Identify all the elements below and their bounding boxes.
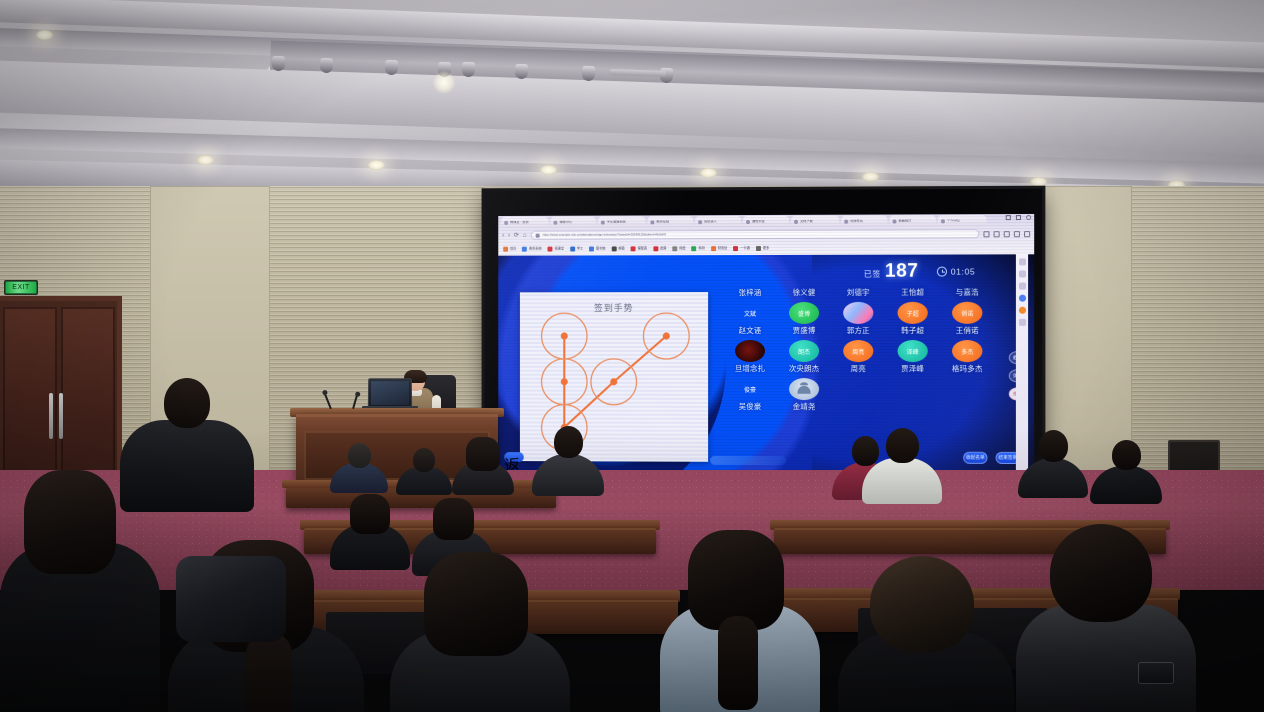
attendee-cell[interactable]: 旦增念扎 — [724, 340, 776, 374]
person-hair — [424, 552, 528, 656]
ceiling-downlight — [197, 155, 214, 165]
panel-history-icon[interactable] — [1018, 283, 1025, 290]
star-icon[interactable] — [983, 231, 989, 237]
attendee-avatar: 周亮 — [843, 340, 873, 362]
attendee-name: 张梓涵 — [739, 287, 762, 298]
person-ponytail — [718, 616, 758, 710]
person-hair — [688, 530, 784, 630]
track-light-icon — [272, 56, 286, 71]
attendee-name: 郭方正 — [847, 325, 870, 336]
attendee-avatar: 盛博 — [789, 302, 819, 324]
attendee-cell[interactable]: 俊豪吴俊豪 — [724, 378, 776, 412]
bookmark-favicon-icon — [691, 246, 696, 251]
attendee-name: 王怡超 — [901, 287, 924, 298]
forward-button[interactable]: › — [508, 232, 510, 238]
tab-favicon-icon — [794, 219, 798, 223]
panel-translate-icon[interactable] — [1018, 307, 1025, 314]
tab-favicon-icon — [601, 220, 605, 224]
attendee-cell[interactable]: 多杰格玛多杰 — [941, 340, 994, 374]
bookmark-label: 财务处 — [718, 247, 728, 250]
bookmark-item[interactable]: 网盘 — [672, 246, 685, 251]
tab-favicon-icon — [844, 219, 848, 223]
person-ponytail — [246, 632, 292, 712]
collapse-list-button[interactable]: 收起名单 — [963, 452, 987, 464]
bookmark-item[interactable]: 财务处 — [711, 246, 728, 251]
signed-counter: 已签 187 — [864, 261, 919, 283]
pattern-node — [561, 378, 568, 385]
bookmark-label: 教务系统 — [529, 248, 542, 251]
panel-settings-icon[interactable] — [1018, 319, 1025, 326]
profile-icon[interactable] — [1014, 231, 1020, 237]
bookmark-item[interactable]: 学工 — [570, 247, 583, 252]
progress-pill — [710, 456, 786, 465]
attendee-cell[interactable]: 刘德宇 — [832, 287, 884, 298]
clock-icon — [937, 267, 947, 277]
attendee-cell[interactable]: 子超韩子超 — [886, 302, 938, 336]
ceiling-downlight — [540, 165, 557, 175]
reload-button[interactable]: ⟳ — [514, 232, 519, 238]
attendee-cell[interactable]: 张梓涵 — [724, 287, 776, 298]
tab-favicon-icon — [941, 219, 945, 223]
lecture-hall-photo: EXIT 雨课堂 - 签到 课程中心 学生管理系统 教务在线 成绩录入 通知公告… — [0, 0, 1264, 712]
menu-icon[interactable] — [1024, 231, 1030, 237]
attendee-name: 次央朗杰 — [789, 363, 819, 374]
attendee-avatar: 文斌 — [735, 302, 765, 324]
bookmark-item[interactable]: 雨课堂 — [548, 247, 564, 252]
person-head — [554, 426, 583, 458]
laptop-screen — [371, 381, 409, 405]
person-shoulders — [1090, 466, 1162, 504]
backpack-body — [176, 556, 286, 642]
track-light-icon — [462, 62, 476, 77]
tab-favicon-icon — [504, 220, 508, 224]
attendance-footer-actions[interactable]: 收起名单 结束签到 — [963, 452, 1020, 464]
downloads-icon[interactable] — [1004, 231, 1010, 237]
track-light-icon — [515, 64, 529, 79]
bookmark-label: 首页 — [510, 248, 516, 251]
bookmark-favicon-icon — [611, 246, 616, 251]
attendee-cell-empty — [941, 378, 994, 412]
bookmark-item[interactable]: 选课 — [653, 246, 666, 251]
audience-member — [862, 428, 942, 502]
track-light-icon — [385, 60, 399, 75]
panel-search-icon[interactable] — [1018, 258, 1025, 265]
bookmark-label: 雨课堂 — [555, 247, 564, 250]
address-bar[interactable]: https://www.example.edu.cn/attendance/si… — [530, 229, 979, 239]
bookmark-label: 选课 — [660, 247, 666, 250]
signed-count: 187 — [885, 261, 918, 283]
panel-bookmark-icon[interactable] — [1018, 270, 1025, 277]
ceiling-downlight — [700, 168, 717, 178]
browser-toolbar: ‹ › ⟳ ⌂ https://www.example.edu.cn/atten… — [498, 227, 1034, 242]
person-shoulders — [532, 454, 604, 496]
audience-member-foreground — [838, 556, 1014, 712]
tab-title: 在线考试 — [850, 220, 863, 223]
bookmark-item[interactable]: 课程表 — [631, 246, 647, 251]
attendee-name: 王俏诺 — [956, 325, 979, 336]
bookmark-favicon-icon — [570, 247, 575, 252]
attendee-name: 金靖尧 — [793, 401, 816, 412]
attendee-avatar: 多杰 — [952, 340, 982, 362]
attendee-cell[interactable]: 金靖尧 — [778, 378, 830, 412]
audience-member-foreground — [660, 530, 820, 712]
ceiling-downlight — [36, 30, 53, 40]
attendee-grid: 张梓涵 徐义健 刘德宇 王怡超 与嘉浩 文斌赵文诬 盛博贾盛博 郭方正 子超韩子… — [724, 287, 994, 413]
track-light-icon — [320, 58, 334, 73]
attendee-name: 吴俊豪 — [739, 401, 762, 412]
bookmark-item[interactable]: 更多 — [756, 246, 769, 251]
audience-member-foreground — [1016, 524, 1196, 712]
attendee-name: 刘德宇 — [847, 287, 870, 298]
attendee-name: 贾泽峰 — [901, 363, 924, 374]
pattern-node — [663, 332, 670, 339]
bookmark-item[interactable]: 首页 — [503, 247, 516, 252]
person-shoulders — [1018, 458, 1088, 498]
ceiling-downlight — [862, 172, 879, 182]
attendee-name: 与嘉浩 — [956, 287, 979, 298]
extensions-icon[interactable] — [994, 231, 1000, 237]
tab-title: 雨课堂 - 签到 — [510, 221, 528, 224]
attendee-avatar — [735, 340, 765, 362]
bookmark-item[interactable]: 教务系统 — [522, 247, 541, 252]
bookmark-label: 一卡通 — [740, 247, 750, 250]
bookmark-favicon-icon — [672, 246, 677, 251]
bookmark-favicon-icon — [733, 246, 738, 251]
toolbar-icons[interactable] — [983, 231, 1030, 237]
attendee-avatar: 子超 — [898, 302, 928, 324]
bookmark-favicon-icon — [589, 246, 594, 251]
tab-title: 成绩录入 — [704, 220, 717, 223]
home-button[interactable]: ⌂ — [523, 232, 527, 238]
audience-member-foreground — [0, 470, 160, 712]
tab-title: 数据统计 — [899, 219, 912, 222]
attendee-cell[interactable]: 徐义健 — [778, 287, 830, 298]
window-controls[interactable] — [1006, 215, 1031, 220]
attendee-name: 韩子超 — [901, 325, 924, 336]
bookmark-favicon-icon — [711, 246, 716, 251]
attendee-cell[interactable]: 朗杰次央朗杰 — [778, 340, 830, 374]
audience-member — [1090, 440, 1162, 502]
person-head — [886, 428, 919, 463]
attendee-cell-empty — [886, 378, 938, 412]
attendee-avatar: 朗杰 — [789, 340, 819, 362]
attendee-cell[interactable]: 俏诺王俏诺 — [941, 302, 994, 336]
bookmark-label: 科研 — [698, 247, 704, 250]
backpack-tag — [1138, 662, 1174, 684]
tab-favicon-icon — [698, 220, 702, 224]
person-head — [1050, 524, 1152, 622]
track-light-icon — [582, 66, 596, 81]
attendee-cell[interactable]: 周亮周亮 — [832, 340, 884, 374]
attendee-name: 赵文诬 — [739, 325, 762, 336]
attendee-name: 徐义健 — [793, 287, 816, 298]
attendance-header: 已签 187 01:05 — [864, 260, 976, 282]
close-icon[interactable] — [1026, 215, 1031, 220]
bookmark-item[interactable]: 科研 — [691, 246, 704, 251]
audience-member — [452, 437, 514, 493]
bookmark-favicon-icon — [653, 246, 658, 251]
browser-chrome: 雨课堂 - 签到 课程中心 学生管理系统 教务在线 成绩录入 通知公告 文档下载… — [498, 214, 1034, 256]
audience-member — [396, 448, 452, 492]
attendee-avatar — [843, 302, 873, 324]
bookmark-label: 学工 — [577, 247, 583, 250]
audience-member-foreground — [390, 552, 570, 712]
attendee-cell[interactable]: 与嘉浩 — [941, 287, 994, 298]
attendee-cell[interactable]: 郭方正 — [832, 302, 884, 336]
attendee-cell[interactable]: 盛博贾盛博 — [778, 302, 830, 336]
audience-member — [330, 443, 388, 491]
pattern-node — [610, 378, 617, 385]
person-hair — [466, 437, 500, 471]
bookmark-item[interactable]: 邮箱 — [611, 246, 624, 251]
bookmark-favicon-icon — [756, 246, 761, 251]
tab-title: 教务在线 — [656, 220, 669, 223]
address-bar-url: https://www.example.edu.cn/attendance/si… — [542, 233, 666, 236]
ceiling-downlight — [368, 160, 385, 170]
audience-member — [1018, 430, 1088, 496]
bookmark-item[interactable]: 一卡通 — [733, 246, 750, 251]
minimize-icon[interactable] — [1006, 215, 1011, 220]
pattern-node — [561, 332, 568, 339]
bookmark-label: 课程表 — [638, 247, 647, 250]
person-head — [870, 556, 974, 652]
timer-value: 01:05 — [951, 267, 976, 277]
tab-favicon-icon — [650, 220, 654, 224]
attendee-cell[interactable]: 王怡超 — [886, 287, 938, 298]
bookmark-label: 邮箱 — [618, 247, 624, 250]
tab-favicon-icon — [746, 220, 750, 224]
person-head — [413, 448, 435, 472]
tab-favicon-icon — [553, 220, 557, 224]
attendee-cell[interactable]: 泽峰贾泽峰 — [886, 340, 938, 374]
bookmark-favicon-icon — [522, 247, 527, 252]
backpack — [176, 556, 286, 642]
attendee-cell[interactable]: 文斌赵文诬 — [724, 302, 776, 336]
tab-title: 个人中心 — [947, 219, 960, 222]
tab-title: 学生管理系统 — [607, 220, 626, 223]
bookmark-favicon-icon — [503, 247, 508, 252]
person-hair — [433, 498, 474, 540]
audience-member — [532, 426, 604, 494]
person-head — [348, 443, 371, 468]
attendee-name: 贾盛博 — [793, 325, 816, 336]
attendee-name: 周亮 — [851, 363, 866, 374]
attendee-avatar: 俏诺 — [952, 302, 982, 324]
bookmark-label: 更多 — [763, 247, 769, 250]
bookmark-item[interactable]: 图书馆 — [589, 246, 605, 251]
door-handle-icon[interactable] — [49, 393, 53, 439]
presenter-laptop — [368, 378, 412, 408]
person-head — [164, 378, 210, 428]
lock-icon — [535, 233, 539, 237]
panel-app-icon[interactable] — [1018, 295, 1025, 302]
exit-sign: EXIT — [4, 280, 38, 295]
attendee-cell-empty — [832, 378, 884, 412]
bookmark-label: 图书馆 — [596, 247, 605, 250]
person-head — [1112, 440, 1141, 470]
tab-title: 课程中心 — [559, 221, 572, 224]
exit-sign-label: EXIT — [6, 282, 36, 293]
countdown-timer: 01:05 — [937, 267, 976, 277]
bookmark-label: 网盘 — [679, 247, 685, 250]
tab-title: 通知公告 — [752, 220, 765, 223]
track-light-icon — [438, 62, 452, 77]
attendee-name: 格玛多杰 — [952, 363, 983, 374]
tab-favicon-icon — [892, 219, 896, 223]
tab-title: 文档下载 — [800, 220, 813, 223]
person-hair — [350, 494, 390, 534]
attendee-avatar: 俊豪 — [735, 378, 765, 400]
back-button[interactable]: ‹ — [502, 232, 504, 238]
bookmark-favicon-icon — [631, 246, 636, 251]
person-hair — [24, 470, 116, 574]
person-head — [1039, 430, 1068, 462]
attendee-name: 旦增念扎 — [735, 363, 765, 374]
attendee-avatar — [789, 378, 819, 400]
maximize-icon[interactable] — [1016, 215, 1021, 220]
door-handle-icon[interactable] — [59, 393, 63, 439]
bookmark-favicon-icon — [548, 247, 553, 252]
signed-label: 已签 — [864, 269, 881, 280]
person-shoulders — [862, 458, 942, 504]
ceiling — [0, 0, 1264, 196]
attendee-avatar: 泽峰 — [898, 340, 928, 362]
